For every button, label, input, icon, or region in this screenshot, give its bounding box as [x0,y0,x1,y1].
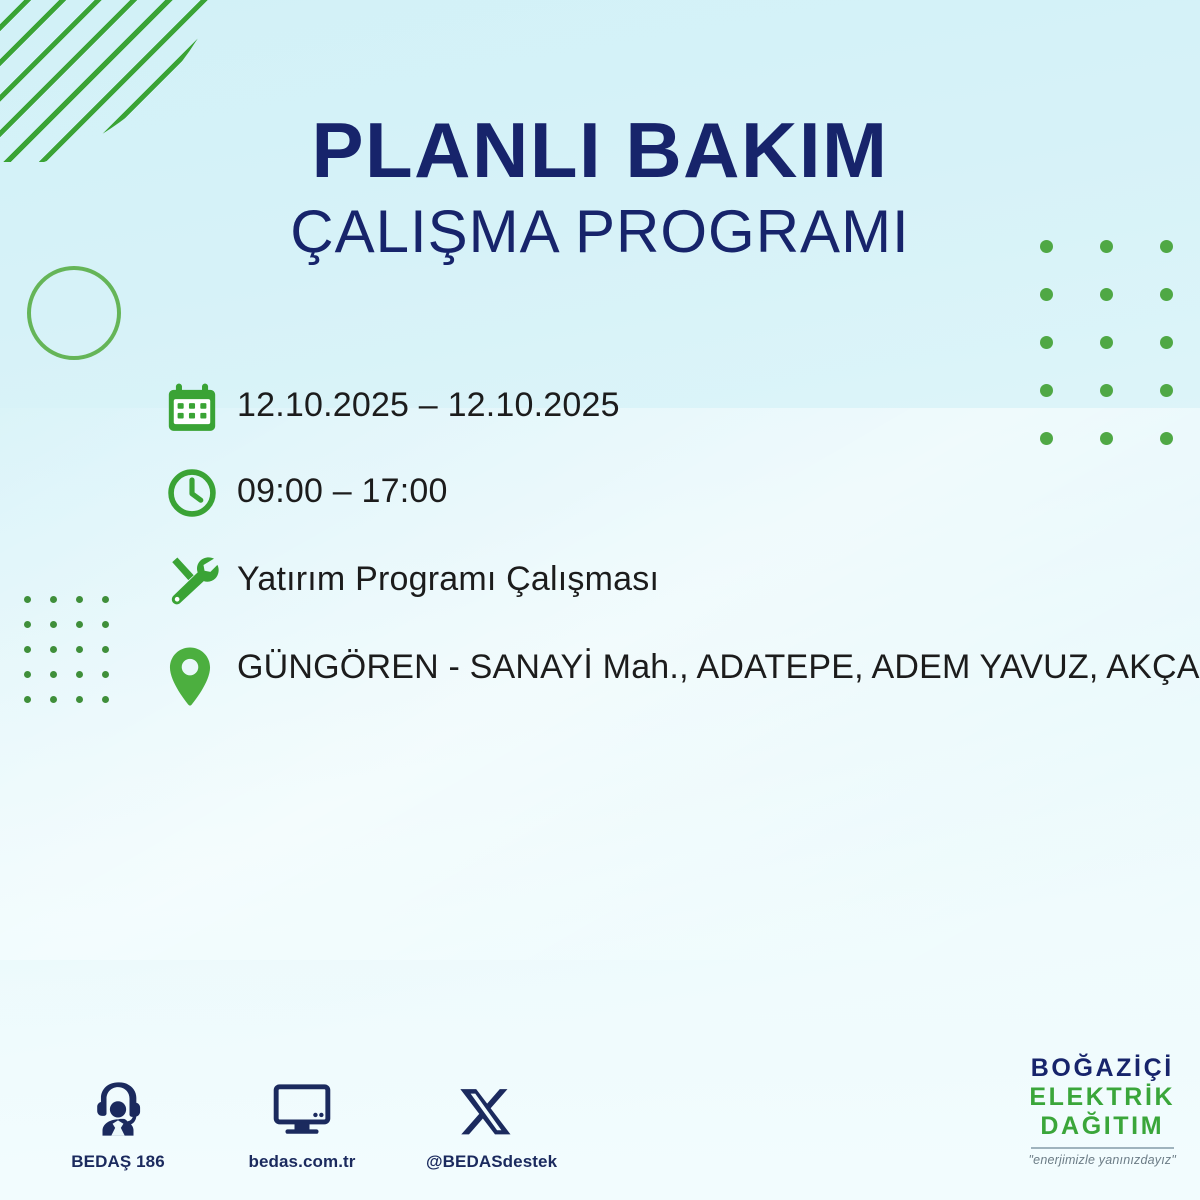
map-pin-icon [165,640,237,708]
outage-time-value: 09:00 – 17:00 [237,464,448,508]
logo-tagline: "enerjimizle yanınızdayız" [1029,1154,1176,1167]
detail-row-date: 12.10.2025 – 12.10.2025 [165,378,1125,434]
detail-row-work-type: Yatırım Programı Çalışması [165,552,1125,610]
outage-location-value: GÜNGÖREN - SANAYİ Mah., ADATEPE, ADEM YA… [237,640,1107,684]
contact-x-label: @BEDASdestek [426,1152,546,1172]
logo-line-bogazici: BOĞAZİÇİ [1029,1056,1176,1081]
detail-row-location: GÜNGÖREN - SANAYİ Mah., ADATEPE, ADEM YA… [165,640,1125,708]
dot-grid-left-decoration [24,596,128,721]
contact-x-social[interactable]: @BEDASdestek [426,1074,546,1172]
tools-icon [165,552,237,610]
logo-line-elektrik: ELEKTRİK [1029,1085,1176,1110]
circle-outline-decoration [27,266,121,360]
contact-phone-label: BEDAŞ 186 [58,1152,178,1172]
company-logo: BOĞAZİÇİ ELEKTRİK DAĞITIM "enerjimizle y… [1029,1056,1176,1167]
contact-phone[interactable]: BEDAŞ 186 [58,1074,178,1172]
calendar-icon [165,378,237,434]
logo-divider [1031,1147,1174,1149]
logo-line-dagitim: DAĞITIM [1029,1114,1176,1139]
contact-website[interactable]: bedas.com.tr [242,1074,362,1172]
outage-work-type-value: Yatırım Programı Çalışması [237,552,659,596]
poster-canvas: PLANLI BAKIM ÇALIŞMA PROGRAMI [0,0,1200,1200]
detail-row-time: 09:00 – 17:00 [165,464,1125,520]
support-agent-icon [58,1074,178,1140]
clock-icon [165,464,237,520]
x-social-icon [426,1074,546,1140]
footer-contacts: BEDAŞ 186 bedas.com.tr @BEDASdestek [58,1074,546,1172]
monitor-icon [242,1074,362,1140]
contact-website-label: bedas.com.tr [242,1152,362,1172]
page-title: PLANLI BAKIM [0,112,1200,188]
page-subtitle: ÇALIŞMA PROGRAMI [0,194,1200,269]
outage-details: 12.10.2025 – 12.10.2025 09:00 – 17:00 [165,378,1125,736]
outage-date-value: 12.10.2025 – 12.10.2025 [237,378,620,422]
poster-header: PLANLI BAKIM ÇALIŞMA PROGRAMI [0,112,1200,269]
